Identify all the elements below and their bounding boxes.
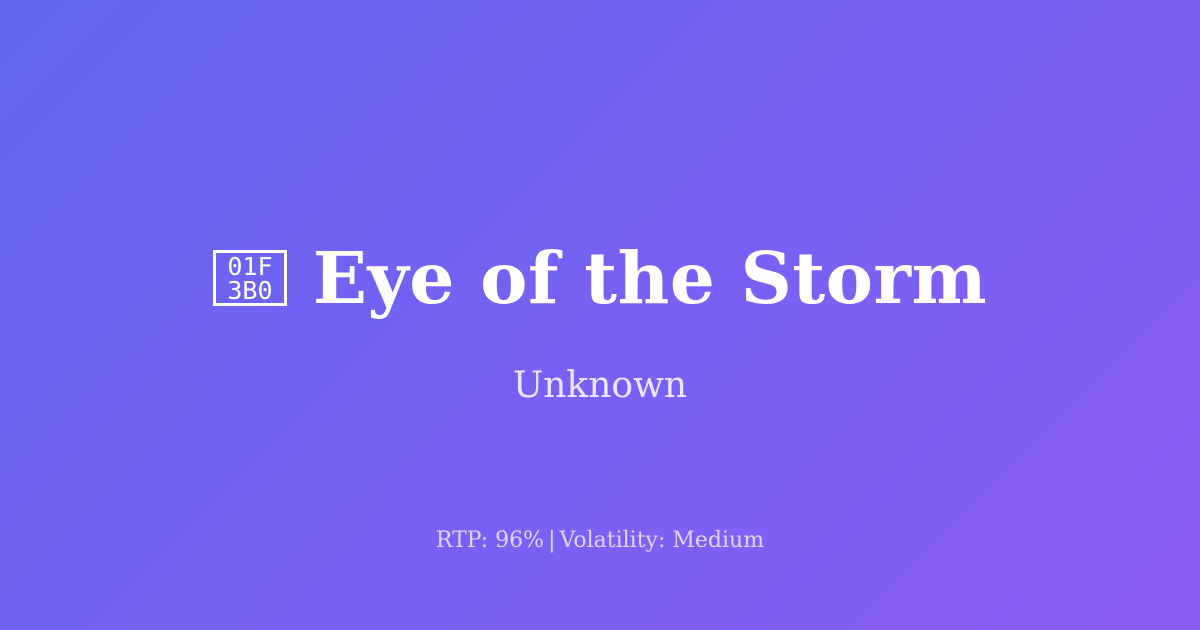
tofu-codepoint-row-bottom: 3B0 xyxy=(227,279,272,303)
og-share-card: 01F 3B0 Eye of the Storm Unknown RTP: 96… xyxy=(0,0,1200,630)
meta-separator: | xyxy=(544,528,559,553)
volatility-value: Volatility: Medium xyxy=(560,528,765,553)
tofu-codepoint-row-top: 01F xyxy=(227,255,272,279)
title-row: 01F 3B0 Eye of the Storm xyxy=(0,232,1200,324)
page-subtitle: Unknown xyxy=(0,362,1200,410)
rtp-value: RTP: 96% xyxy=(436,528,544,553)
page-title: Eye of the Storm xyxy=(313,236,987,320)
slot-machine-icon: 01F 3B0 xyxy=(213,250,287,306)
game-meta-line: RTP: 96%|Volatility: Medium xyxy=(0,526,1200,556)
